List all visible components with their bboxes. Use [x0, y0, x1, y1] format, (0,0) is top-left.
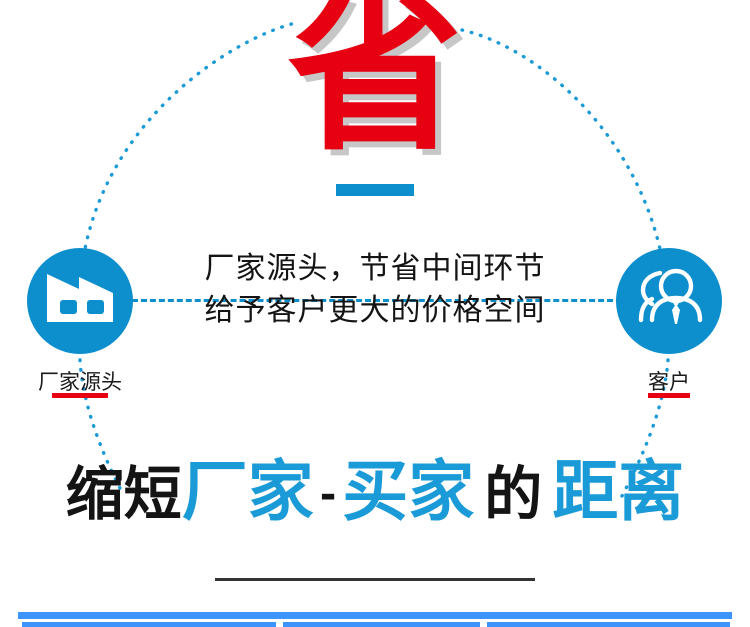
node-customers-underline — [648, 393, 690, 398]
statement-line-2: 给予客户更大的价格空间 — [155, 290, 595, 332]
bottom-divider — [215, 578, 535, 581]
node-customers: 客户 — [616, 248, 722, 354]
factory-icon — [27, 248, 133, 354]
node-factory-underline — [52, 393, 108, 398]
headline-character: 省 — [0, 0, 750, 161]
slogan-part-5: 的 — [484, 460, 542, 528]
promo-banner: 省 厂家源头 客户 厂家源头，节省中间环节 — [0, 0, 750, 627]
footer-segment-3 — [487, 622, 730, 627]
footer-bar — [18, 612, 732, 619]
slogan-part-2: 厂家 — [182, 458, 314, 526]
node-factory: 厂家源头 — [27, 248, 133, 354]
footer-segment-2 — [283, 622, 480, 627]
node-customers-label: 客户 — [576, 366, 750, 396]
customers-icon — [616, 248, 722, 354]
statement-line-1: 厂家源头，节省中间环节 — [155, 248, 595, 290]
footer-segment-1 — [22, 622, 276, 627]
statement-block: 厂家源头，节省中间环节 给予客户更大的价格空间 — [155, 248, 595, 332]
slogan: 缩短厂家-买家的距离 — [0, 458, 750, 535]
headline-underbar — [336, 184, 414, 196]
node-factory-label: 厂家源头 — [0, 366, 173, 396]
slogan-part-1: 缩短 — [66, 460, 182, 528]
slogan-part-6: 距离 — [552, 458, 684, 526]
slogan-part-4: 买家 — [342, 458, 474, 526]
slogan-dash: - — [314, 461, 343, 529]
